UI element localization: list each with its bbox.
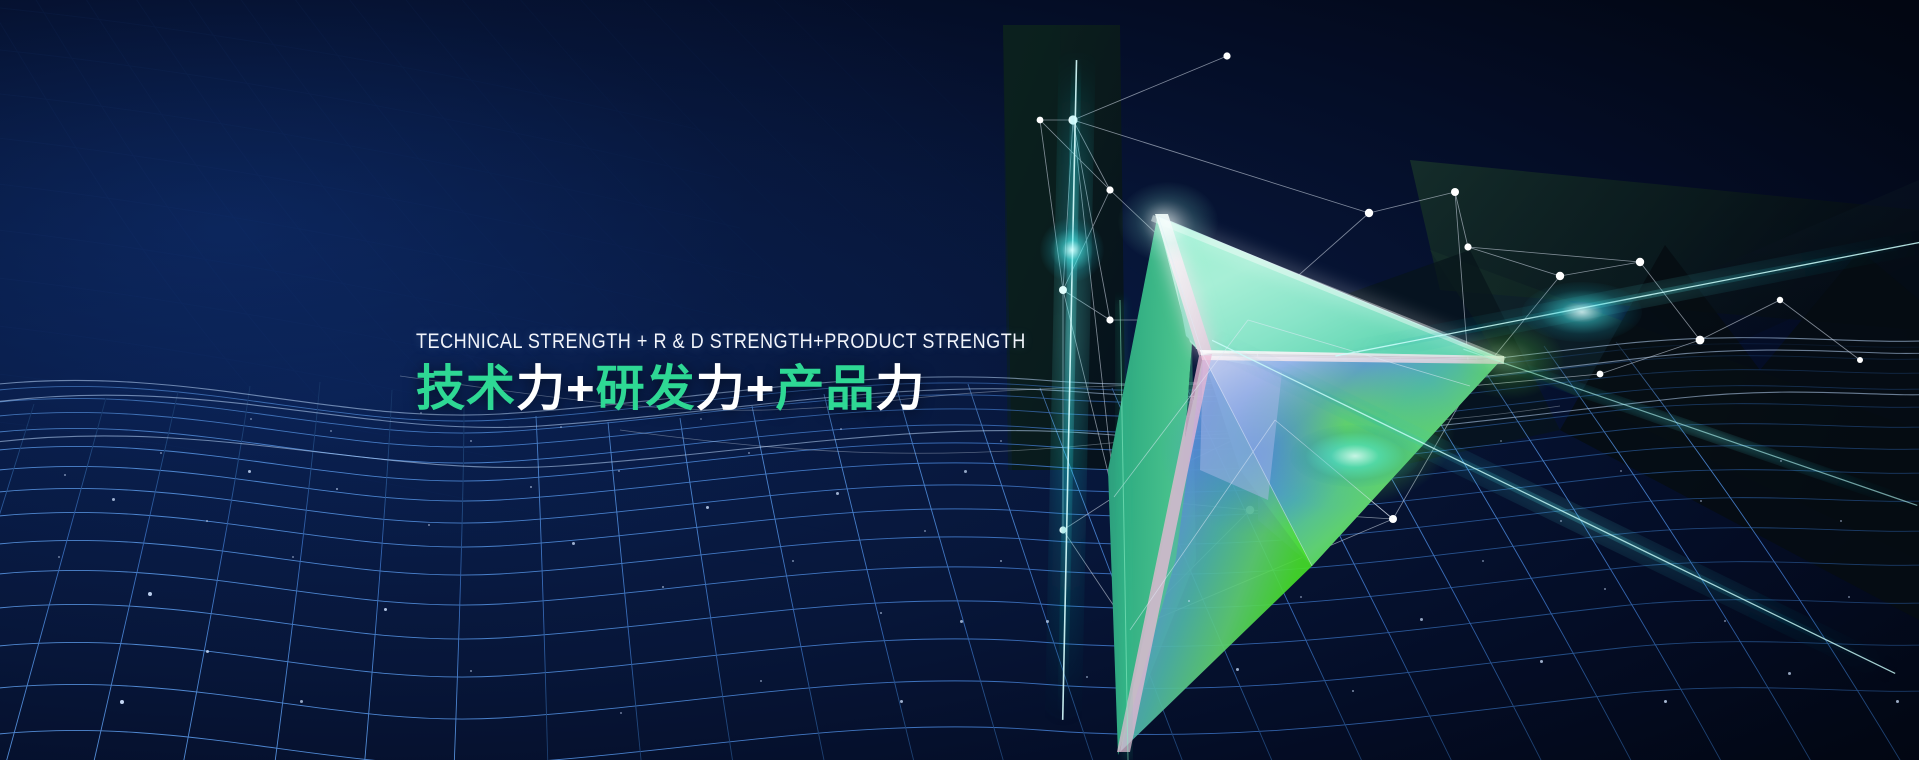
headline-segment-0: 技术 [416,362,516,416]
flare-lower-right [1290,425,1420,487]
hero-text-block: TECHNICAL STRENGTH + R & D STRENGTH+PROD… [416,330,1036,416]
flare-arrow-tip [1455,320,1565,400]
hero-headline: 技术力+研发力+产品力 [416,364,1036,416]
headline-segment-6: 产品 [775,362,875,416]
headline-segment-5: + [746,362,776,416]
headline-segment-2: + [566,362,596,416]
flare-vertical-beam [1040,218,1104,282]
hero-eyebrow: TECHNICAL STRENGTH + R & D STRENGTH+PROD… [416,330,949,354]
headline-segment-3: 研发 [596,362,696,416]
headline-segment-7: 力 [875,362,925,416]
flare-arrow-apex [1118,182,1218,262]
headline-segment-1: 力 [516,362,566,416]
flare-upper-right [1522,282,1642,342]
headline-segment-4: 力 [696,362,746,416]
hero-banner: TECHNICAL STRENGTH + R & D STRENGTH+PROD… [0,0,1919,760]
